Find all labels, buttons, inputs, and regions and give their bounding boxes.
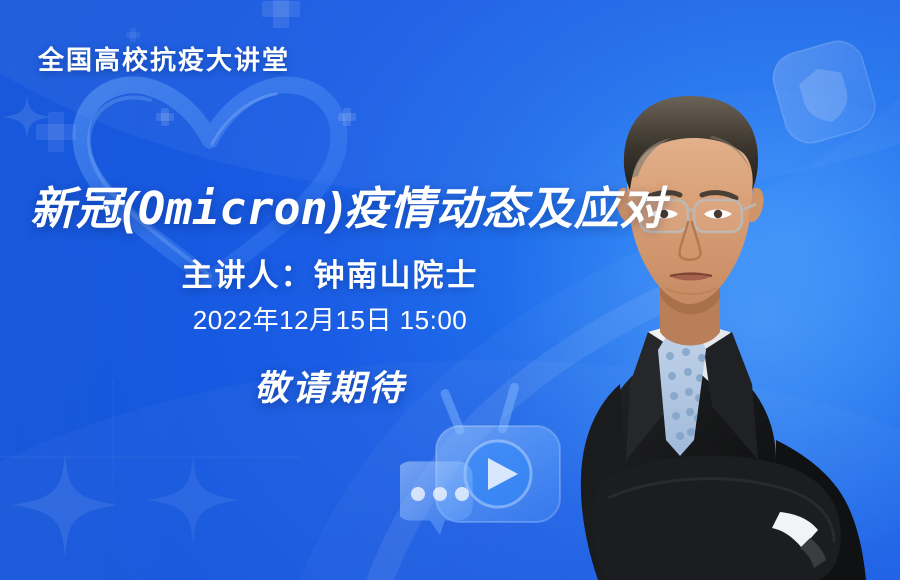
event-series-label: 全国高校抗疫大讲堂 xyxy=(38,40,290,77)
sparkle-icon xyxy=(145,452,241,548)
standby-label: 敬请期待 xyxy=(0,360,660,411)
page-title: 新冠(Omicron)疫情动态及应对 xyxy=(30,172,666,237)
title-tail: )疫情动态及应对 xyxy=(328,183,666,234)
sparkle-icon xyxy=(2,92,52,142)
event-datetime: 2022年12月15日 15:00 xyxy=(0,300,660,337)
title-latin: Omicron xyxy=(138,182,328,235)
medical-cross-icon xyxy=(156,108,174,126)
medical-cross-icon xyxy=(338,108,356,126)
chat-bubble-decor xyxy=(400,461,473,535)
speaker-name: 主讲人：钟南山院士 xyxy=(0,250,660,295)
webinar-poster: 全国高校抗疫大讲堂 新冠(Omicron)疫情动态及应对 主讲人：钟南山院士 2… xyxy=(0,0,900,580)
sparkle-icon xyxy=(10,450,120,560)
title-lead: 新冠( xyxy=(30,183,138,234)
medical-cross-icon xyxy=(262,0,300,28)
